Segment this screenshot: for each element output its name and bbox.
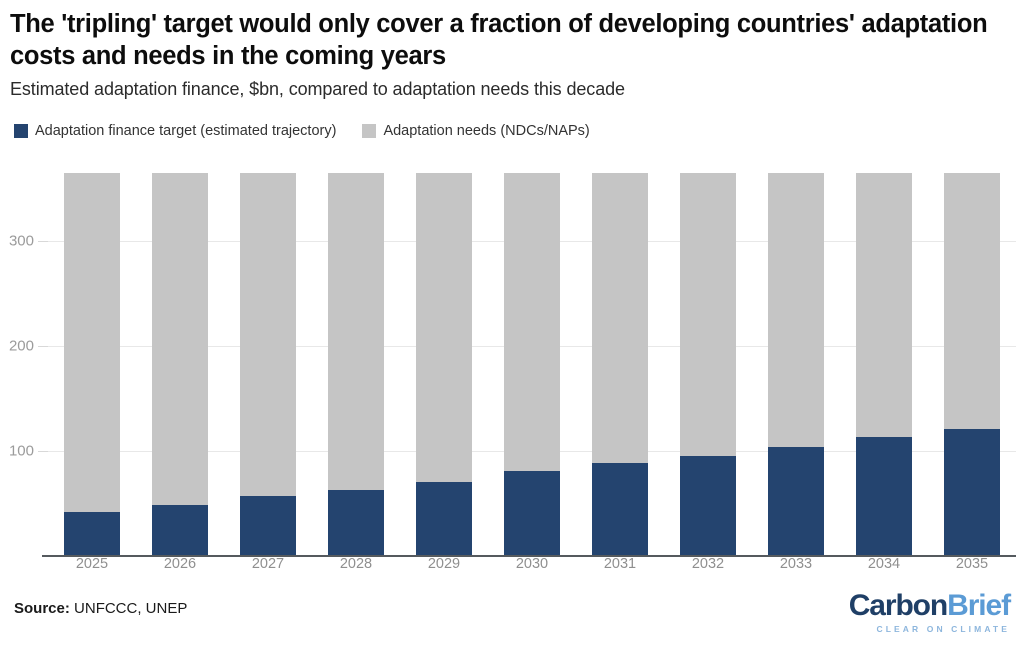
bar-segment-finance[interactable] bbox=[592, 463, 648, 556]
bar-segment-needs[interactable] bbox=[328, 173, 384, 490]
bar-segment-needs[interactable] bbox=[592, 173, 648, 463]
bar-group[interactable] bbox=[312, 173, 400, 556]
page-title: The 'tripling' target would only cover a… bbox=[10, 8, 1014, 72]
y-axis-tick-label: 100 bbox=[9, 443, 34, 460]
x-axis-tick-label: 2035 bbox=[928, 556, 1016, 572]
source-note: Source: UNFCCC, UNEP bbox=[14, 600, 187, 617]
bar-stack[interactable] bbox=[64, 173, 120, 556]
bar-segment-finance[interactable] bbox=[768, 447, 824, 556]
bar-stack[interactable] bbox=[328, 173, 384, 556]
bar-stack[interactable] bbox=[592, 173, 648, 556]
y-axis-tick-label: 200 bbox=[9, 338, 34, 355]
chart-header: The 'tripling' target would only cover a… bbox=[10, 8, 1014, 101]
bar-segment-finance[interactable] bbox=[856, 437, 912, 556]
bar-segment-needs[interactable] bbox=[152, 173, 208, 505]
x-axis-tick-label: 2032 bbox=[664, 556, 752, 572]
legend-item-needs[interactable]: Adaptation needs (NDCs/NAPs) bbox=[362, 124, 589, 139]
bar-segment-finance[interactable] bbox=[64, 512, 120, 556]
x-axis-tick-label: 2034 bbox=[840, 556, 928, 572]
bar-segment-finance[interactable] bbox=[328, 490, 384, 556]
plot-inner: 100200300 bbox=[48, 173, 1016, 556]
bar-group[interactable] bbox=[664, 173, 752, 556]
x-axis-tick-label: 2031 bbox=[576, 556, 664, 572]
x-axis-tick-label: 2026 bbox=[136, 556, 224, 572]
bar-stack[interactable] bbox=[240, 173, 296, 556]
legend-label-finance: Adaptation finance target (estimated tra… bbox=[35, 124, 336, 139]
bar-stack[interactable] bbox=[856, 173, 912, 556]
bar-group[interactable] bbox=[752, 173, 840, 556]
bar-segment-needs[interactable] bbox=[504, 173, 560, 471]
bar-group[interactable] bbox=[576, 173, 664, 556]
y-axis-tick-mark bbox=[38, 451, 48, 452]
logo-tagline: CLEAR ON CLIMATE bbox=[849, 625, 1010, 634]
bar-group[interactable] bbox=[48, 173, 136, 556]
chart-legend: Adaptation finance target (estimated tra… bbox=[14, 124, 590, 139]
bar-group[interactable] bbox=[136, 173, 224, 556]
x-axis-tick-labels: 2025202620272028202920302031203220332034… bbox=[48, 556, 1016, 572]
legend-swatch-finance bbox=[14, 124, 28, 138]
bar-group[interactable] bbox=[224, 173, 312, 556]
y-axis-tick-mark bbox=[38, 241, 48, 242]
x-axis-tick-label: 2028 bbox=[312, 556, 400, 572]
bar-stack[interactable] bbox=[504, 173, 560, 556]
bar-stack[interactable] bbox=[768, 173, 824, 556]
bar-segment-finance[interactable] bbox=[504, 471, 560, 556]
bar-segment-needs[interactable] bbox=[240, 173, 296, 496]
bar-segment-needs[interactable] bbox=[416, 173, 472, 481]
bar-segment-finance[interactable] bbox=[240, 496, 296, 556]
chart-figure: The 'tripling' target would only cover a… bbox=[0, 0, 1024, 648]
x-axis-tick-label: 2027 bbox=[224, 556, 312, 572]
logo-word-brief: Brief bbox=[947, 589, 1010, 622]
logo-word-carbon: Carbon bbox=[849, 589, 947, 622]
x-axis-tick-label: 2030 bbox=[488, 556, 576, 572]
bar-group[interactable] bbox=[400, 173, 488, 556]
source-label: Source: bbox=[14, 600, 70, 617]
bar-segment-finance[interactable] bbox=[416, 482, 472, 557]
bar-segment-finance[interactable] bbox=[152, 505, 208, 556]
x-axis-tick-label: 2033 bbox=[752, 556, 840, 572]
carbonbrief-logo[interactable]: CarbonBrief CLEAR ON CLIMATE bbox=[849, 591, 1010, 634]
bar-segment-needs[interactable] bbox=[680, 173, 736, 456]
legend-label-needs: Adaptation needs (NDCs/NAPs) bbox=[383, 124, 589, 139]
x-axis-tick-label: 2025 bbox=[48, 556, 136, 572]
bar-segment-finance[interactable] bbox=[680, 456, 736, 556]
legend-item-finance[interactable]: Adaptation finance target (estimated tra… bbox=[14, 124, 336, 139]
bar-stack[interactable] bbox=[680, 173, 736, 556]
x-axis-tick-label: 2029 bbox=[400, 556, 488, 572]
bar-group[interactable] bbox=[928, 173, 1016, 556]
bar-segment-needs[interactable] bbox=[856, 173, 912, 437]
bar-segment-needs[interactable] bbox=[768, 173, 824, 447]
bar-series bbox=[48, 173, 1016, 556]
bar-group[interactable] bbox=[488, 173, 576, 556]
plot-area: 100200300 202520262027202820292030203120… bbox=[0, 160, 1024, 560]
y-axis-tick-label: 300 bbox=[9, 233, 34, 250]
chart-subtitle: Estimated adaptation finance, $bn, compa… bbox=[10, 78, 1014, 101]
legend-swatch-needs bbox=[362, 124, 376, 138]
bar-segment-needs[interactable] bbox=[64, 173, 120, 512]
bar-stack[interactable] bbox=[416, 173, 472, 556]
bar-segment-finance[interactable] bbox=[944, 429, 1000, 556]
chart-footer: Source: UNFCCC, UNEP CarbonBrief CLEAR O… bbox=[0, 586, 1024, 648]
source-value: UNFCCC, UNEP bbox=[70, 600, 188, 617]
bar-segment-needs[interactable] bbox=[944, 173, 1000, 429]
bar-stack[interactable] bbox=[152, 173, 208, 556]
logo-wordmark: CarbonBrief bbox=[849, 591, 1010, 621]
bar-group[interactable] bbox=[840, 173, 928, 556]
bar-stack[interactable] bbox=[944, 173, 1000, 556]
y-axis-tick-mark bbox=[38, 346, 48, 347]
